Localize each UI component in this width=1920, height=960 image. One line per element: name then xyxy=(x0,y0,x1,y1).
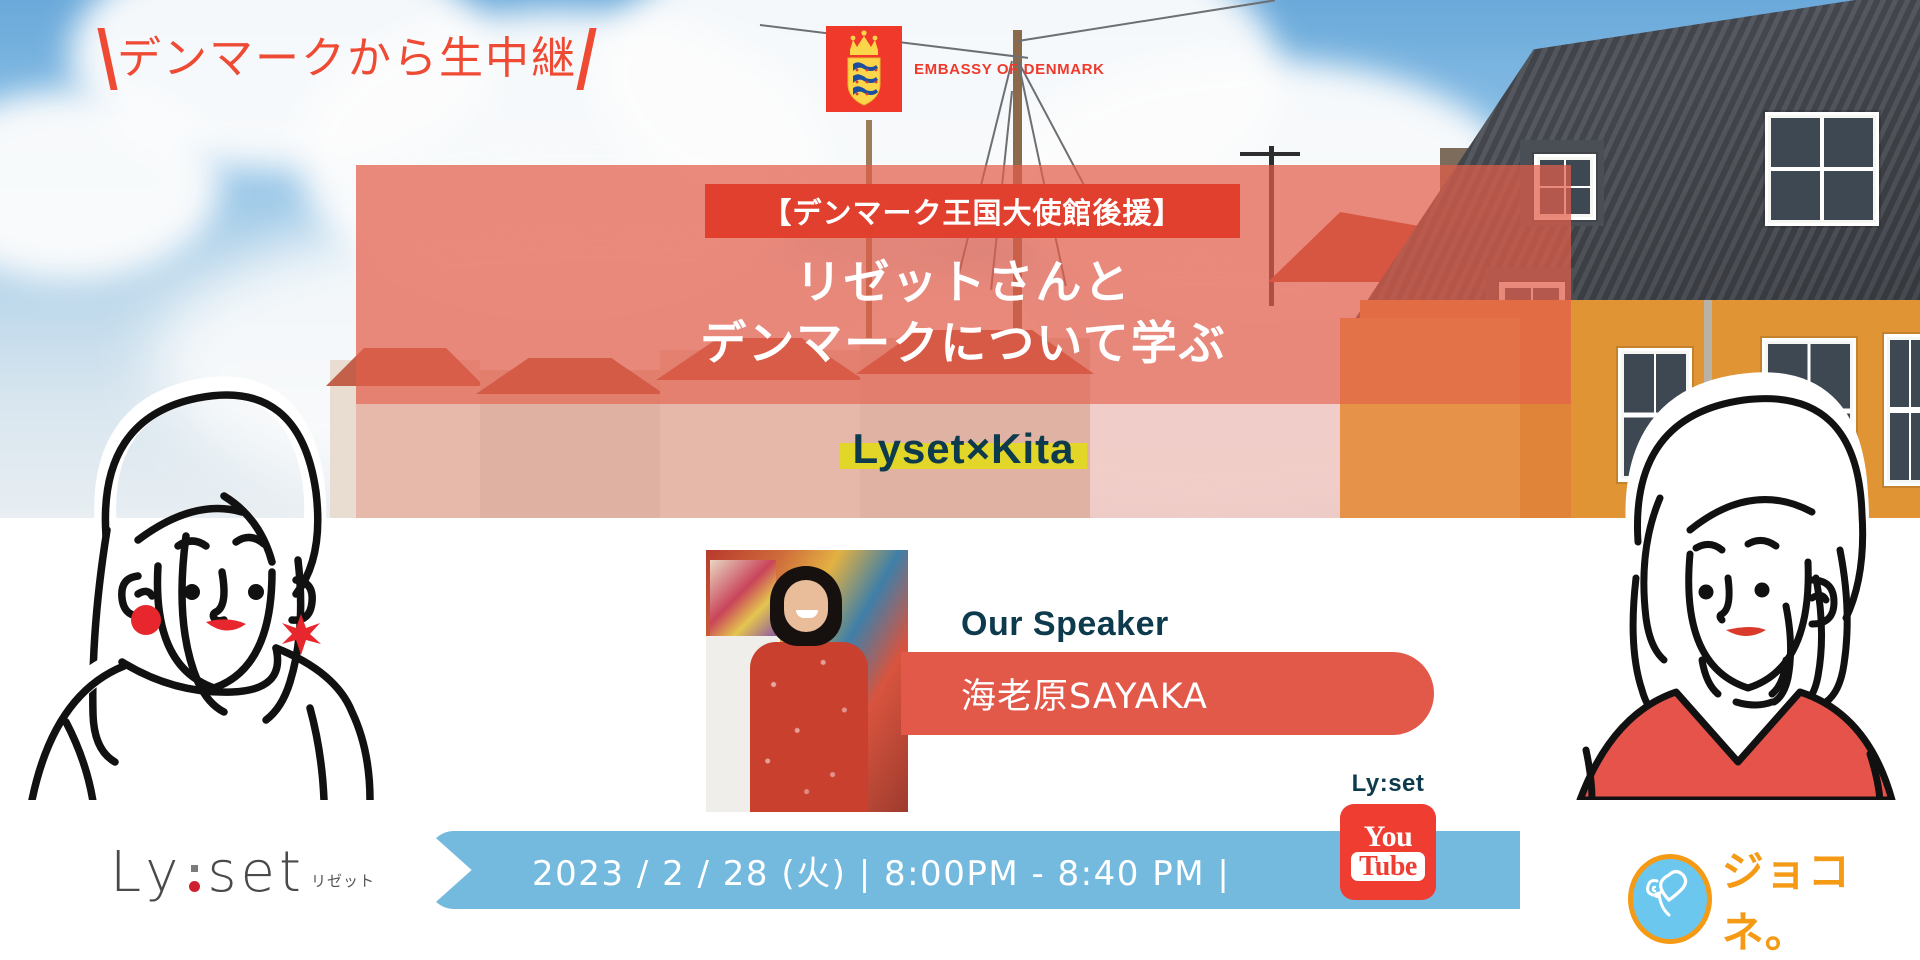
speaker-name-pill: 海老原SAYAKA xyxy=(901,652,1434,735)
embassy-logo: EMBASSY OF DENMARK xyxy=(826,26,1105,112)
window xyxy=(1765,112,1879,226)
poster-canvas: デンマークから生中継 xyxy=(0,0,1920,960)
youtube-icon[interactable]: You Tube xyxy=(1340,804,1436,900)
lyset-logo-right: set xyxy=(207,845,305,901)
speaker-photo-face xyxy=(784,580,828,632)
lyset-logo-colon-icon xyxy=(189,865,200,892)
lyset-logo: L y set リゼット xyxy=(110,845,375,901)
subtitle: Lyset×Kita xyxy=(852,425,1074,472)
page-title: リゼットさんと デンマークについて学ぶ xyxy=(356,252,1571,374)
jokone-label: ジョコネ。 xyxy=(1722,838,1920,960)
embassy-label: EMBASSY OF DENMARK xyxy=(914,61,1105,78)
youtube-channel-label: Ly:set xyxy=(1352,770,1425,798)
weather-vane-arm xyxy=(1240,152,1300,156)
danish-coat-of-arms-icon xyxy=(826,26,902,112)
eye xyxy=(184,584,200,600)
title-line-2: デンマークについて学ぶ xyxy=(356,313,1571,374)
lyset-dot-gray xyxy=(191,865,198,872)
earring xyxy=(282,614,321,655)
sponsor-badge-label: 【デンマーク王国大使館後援】 xyxy=(762,190,1182,232)
youtube-you-text: You xyxy=(1364,823,1413,850)
speaker-heading: Our Speaker xyxy=(961,605,1169,644)
subtitle-wrap: Lyset×Kita xyxy=(356,425,1571,473)
butterfly-circle-icon xyxy=(1628,854,1712,944)
speaker-photo xyxy=(706,550,908,812)
youtube-badge[interactable]: Ly:set You Tube xyxy=(1308,770,1468,900)
right-figure-illustration xyxy=(1540,330,1920,800)
eye xyxy=(1755,583,1770,598)
schedule-text: 2023 / 2 / 28 (火) | 8:00PM - 8:40 PM | xyxy=(532,846,1230,895)
live-banner: デンマークから生中継 xyxy=(104,28,590,90)
lyset-dot-red xyxy=(189,881,200,892)
title-line-1: リゼットさんと xyxy=(356,252,1571,313)
lyset-logo-y: y xyxy=(145,845,182,901)
eye xyxy=(248,584,264,600)
sponsor-badge: 【デンマーク王国大使館後援】 xyxy=(705,184,1240,238)
youtube-tube-text: Tube xyxy=(1359,851,1417,882)
speaker-name: 海老原SAYAKA xyxy=(961,668,1208,719)
youtube-tube-box: Tube xyxy=(1351,852,1425,881)
earring xyxy=(131,605,161,635)
speaker-photo-doll xyxy=(710,560,776,636)
window-grid xyxy=(1771,118,1873,220)
eye xyxy=(1699,585,1714,600)
lyset-logo-reading: リゼット xyxy=(311,870,375,891)
jokone-logo: ジョコネ。 xyxy=(1628,838,1920,960)
speaker-photo-dress xyxy=(750,642,868,812)
lyset-logo-left: L xyxy=(110,845,145,901)
live-banner-label: デンマークから生中継 xyxy=(117,37,577,81)
left-figure-illustration xyxy=(10,330,410,800)
